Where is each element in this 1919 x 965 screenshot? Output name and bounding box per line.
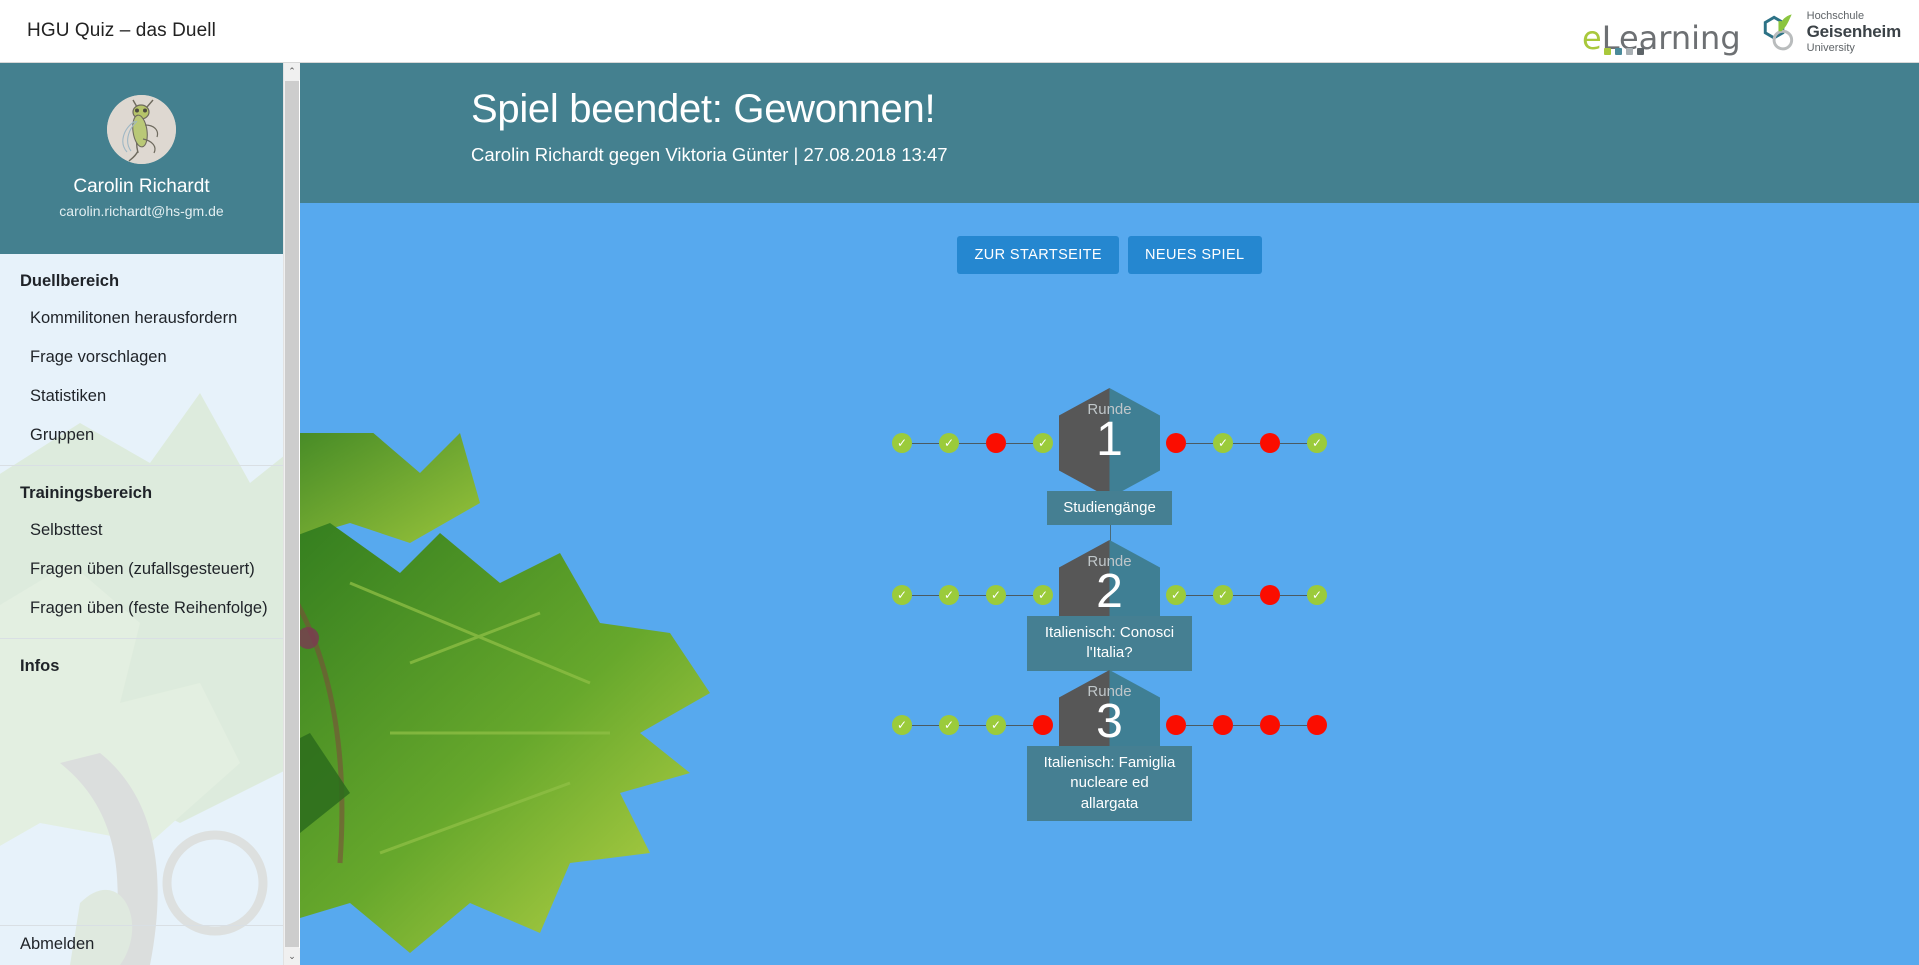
- elearning-logo-word: Learning: [1602, 23, 1741, 53]
- sidebar-heading-trainingsbereich: Trainingsbereich: [0, 466, 283, 511]
- answer-dot-correct: ✓: [939, 433, 959, 453]
- dot-connector: [959, 595, 986, 596]
- answer-dots-left: ✓✓✓: [892, 433, 1053, 453]
- sidebar-item-kommilitonen-herausfordern[interactable]: Kommilitonen herausfordern: [0, 299, 283, 338]
- dot-connector: [1280, 725, 1307, 726]
- round-number: 3: [1059, 697, 1160, 747]
- answer-dot-correct: ✓: [1033, 585, 1053, 605]
- hgu-logo-text: Hochschule Geisenheim University: [1807, 10, 1901, 54]
- answer-dot-wrong: [1213, 715, 1233, 735]
- sidebar-heading-duellbereich: Duellbereich: [0, 254, 283, 299]
- scrollbar-up-arrow-icon[interactable]: ⌃: [284, 63, 300, 80]
- profile-name: Carolin Richardt: [0, 176, 283, 198]
- round-topic-label: Studiengänge: [1047, 491, 1172, 525]
- answer-dot-wrong: [1166, 715, 1186, 735]
- answer-dot-correct: ✓: [986, 585, 1006, 605]
- dot-connector: [1186, 725, 1213, 726]
- page-subtitle: Carolin Richardt gegen Viktoria Günter |…: [471, 144, 948, 166]
- sidebar-item-statistiken[interactable]: Statistiken: [0, 377, 283, 416]
- geisenheim-hexagon-mark: [1755, 12, 1799, 52]
- answer-dots-right: ✓✓✓: [1166, 585, 1327, 605]
- sidebar-item-selbsttest[interactable]: Selbsttest: [0, 511, 283, 550]
- page-banner: Spiel beendet: Gewonnen! Carolin Richard…: [300, 63, 1919, 203]
- answer-dot-correct: ✓: [986, 715, 1006, 735]
- round-number: 2: [1059, 567, 1160, 617]
- dot-connector: [912, 595, 939, 596]
- app-title: HGU Quiz – das Duell: [27, 20, 216, 42]
- sidebar-profile: Carolin Richardt carolin.richardt@hs-gm.…: [0, 63, 283, 254]
- top-bar: HGU Quiz – das Duell e Learning Hochschu…: [0, 0, 1919, 63]
- round-row: ✓✓✓Runde1✓✓: [300, 388, 1919, 498]
- dot-connector: [1233, 725, 1260, 726]
- answer-dot-correct: ✓: [892, 433, 912, 453]
- round-topic-wrap: Studiengänge: [300, 491, 1919, 525]
- round-topic-wrap: Italienisch: Conosci l'Italia?: [300, 616, 1919, 671]
- answer-dot-wrong: [986, 433, 1006, 453]
- page-title: Spiel beendet: Gewonnen!: [471, 87, 935, 132]
- hgu-line-2: Geisenheim: [1807, 22, 1901, 41]
- zur-startseite-button[interactable]: ZUR STARTSEITE: [957, 236, 1119, 274]
- answer-dots-left: ✓✓✓✓: [892, 585, 1053, 605]
- hgu-line-3: University: [1807, 42, 1901, 54]
- sidebar-item-fragen-ueben-feste-reihenfolge[interactable]: Fragen üben (feste Reihenfolge): [0, 589, 283, 628]
- brand-logo-bar: e Learning Hochschule Geisenheim Univers…: [1582, 8, 1901, 56]
- dot-connector: [1280, 595, 1307, 596]
- answer-dot-correct: ✓: [1033, 433, 1053, 453]
- sidebar-group-trainingsbereich: Trainingsbereich Selbsttest Fragen üben …: [0, 466, 283, 639]
- answer-dot-correct: ✓: [939, 715, 959, 735]
- answer-dot-correct: ✓: [1166, 585, 1186, 605]
- hochschule-geisenheim-logo: Hochschule Geisenheim University: [1755, 10, 1901, 54]
- profile-email: carolin.richardt@hs-gm.de: [0, 203, 283, 219]
- round-topic-label: Italienisch: Famiglia nucleare ed allarg…: [1027, 746, 1192, 821]
- round-number: 1: [1059, 415, 1160, 465]
- answer-dot-correct: ✓: [939, 585, 959, 605]
- answer-dot-wrong: [1166, 433, 1186, 453]
- answer-dot-wrong: [1260, 585, 1280, 605]
- round-topic-wrap: Italienisch: Famiglia nucleare ed allarg…: [300, 746, 1919, 821]
- round-block: ✓✓✓Runde1✓✓: [300, 388, 1919, 498]
- dot-connector: [1006, 725, 1033, 726]
- answer-dot-wrong: [1260, 433, 1280, 453]
- dot-connector: [912, 443, 939, 444]
- answer-dot-correct: ✓: [1213, 433, 1233, 453]
- sidebar-item-gruppen[interactable]: Gruppen: [0, 416, 283, 455]
- sidebar-nav: Duellbereich Kommilitonen herausfordern …: [0, 254, 283, 694]
- dot-connector: [1233, 595, 1260, 596]
- sidebar-heading-infos: Infos: [0, 639, 283, 684]
- game-result-body: ZUR STARTSEITE NEUES SPIEL ✓✓✓Runde1✓✓St…: [300, 203, 1919, 965]
- elearning-logo: e Learning: [1582, 11, 1741, 53]
- dot-connector: [1233, 443, 1260, 444]
- dot-connector: [1280, 443, 1307, 444]
- main-content: Spiel beendet: Gewonnen! Carolin Richard…: [300, 63, 1919, 965]
- dot-connector: [959, 725, 986, 726]
- answer-dot-correct: ✓: [892, 715, 912, 735]
- sidebar-scrollbar[interactable]: ⌃ ⌄: [283, 63, 299, 965]
- elearning-logo-e: e: [1582, 23, 1602, 53]
- answer-dot-correct: ✓: [892, 585, 912, 605]
- answer-dots-right: ✓✓: [1166, 433, 1327, 453]
- dot-connector: [912, 725, 939, 726]
- answer-dot-correct: ✓: [1307, 433, 1327, 453]
- user-avatar[interactable]: [107, 95, 176, 164]
- round-topic-label: Italienisch: Conosci l'Italia?: [1027, 616, 1192, 671]
- scrollbar-thumb[interactable]: [285, 81, 299, 947]
- sidebar-item-fragen-ueben-zufallsgesteuert[interactable]: Fragen üben (zufallsgesteuert): [0, 550, 283, 589]
- sidebar-logout-section: Abmelden: [0, 925, 283, 965]
- sidebar-group-infos: Infos: [0, 639, 283, 694]
- sidebar-item-frage-vorschlagen[interactable]: Frage vorschlagen: [0, 338, 283, 377]
- answer-dot-correct: ✓: [1307, 585, 1327, 605]
- answer-dot-wrong: [1260, 715, 1280, 735]
- answer-dots-right: [1166, 715, 1327, 735]
- answer-dot-wrong: [1033, 715, 1053, 735]
- sidebar-group-duellbereich: Duellbereich Kommilitonen herausfordern …: [0, 254, 283, 466]
- sidebar: Carolin Richardt carolin.richardt@hs-gm.…: [0, 63, 283, 965]
- elearning-logo-dots: [1604, 48, 1644, 55]
- sidebar-item-abmelden[interactable]: Abmelden: [0, 926, 283, 964]
- dot-connector: [1006, 443, 1033, 444]
- scrollbar-down-arrow-icon[interactable]: ⌄: [284, 948, 300, 965]
- hgu-line-1: Hochschule: [1807, 10, 1901, 22]
- dot-connector: [1186, 443, 1213, 444]
- dot-connector: [959, 443, 986, 444]
- answer-dots-left: ✓✓✓: [892, 715, 1053, 735]
- answer-dot-wrong: [1307, 715, 1327, 735]
- neues-spiel-button[interactable]: NEUES SPIEL: [1128, 236, 1262, 274]
- dot-connector: [1186, 595, 1213, 596]
- avatar-insect-drawing: [107, 95, 176, 164]
- answer-dot-correct: ✓: [1213, 585, 1233, 605]
- round-hexagon: Runde1: [1059, 388, 1160, 498]
- action-button-bar: ZUR STARTSEITE NEUES SPIEL: [300, 236, 1919, 274]
- dot-connector: [1006, 595, 1033, 596]
